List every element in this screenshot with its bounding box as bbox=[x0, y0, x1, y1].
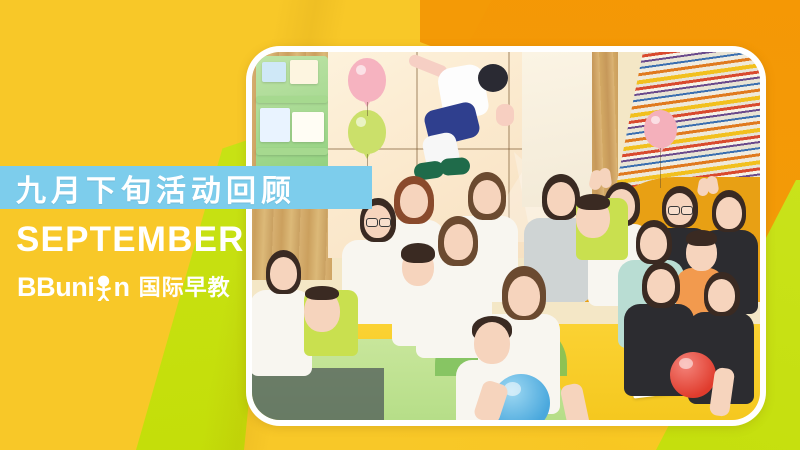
balloon-string bbox=[660, 148, 661, 188]
picture-book bbox=[262, 62, 286, 82]
brand-name-part1: BBuni bbox=[17, 274, 94, 301]
person-toddler bbox=[576, 198, 628, 260]
dark-mat-edge bbox=[252, 368, 384, 420]
balloon-highlight bbox=[651, 116, 660, 124]
title-banner: 九月下旬活动回顾 bbox=[0, 166, 372, 209]
picture-book bbox=[292, 112, 324, 142]
picture-book bbox=[290, 60, 318, 84]
green-balloon bbox=[348, 110, 386, 154]
page-title: 九月下旬活动回顾 bbox=[0, 166, 296, 210]
person-toddler bbox=[304, 290, 358, 356]
balloon-highlight bbox=[356, 117, 366, 127]
red-play-ball bbox=[670, 352, 716, 398]
month-label: SEPTEMBER bbox=[16, 222, 245, 257]
group-photo bbox=[252, 52, 760, 420]
brand-name-cn: 国际早教 bbox=[139, 277, 231, 299]
shelf-ledge bbox=[256, 148, 328, 155]
photo-scene bbox=[252, 52, 760, 420]
projected-hand bbox=[496, 104, 514, 126]
pink-balloon bbox=[348, 58, 386, 102]
brand-logo: BBuni n 国际早教 bbox=[17, 274, 231, 301]
person-figure-icon bbox=[94, 275, 113, 301]
green-shelf bbox=[256, 56, 328, 181]
shelf-ledge bbox=[256, 96, 328, 103]
eyeglasses bbox=[379, 218, 391, 227]
balloon-string bbox=[367, 102, 368, 116]
projected-child-head bbox=[478, 64, 508, 92]
eyeglasses bbox=[668, 206, 680, 215]
eyeglasses bbox=[681, 206, 693, 215]
poster-canvas: 九月下旬活动回顾 SEPTEMBER BBuni n 国际早教 bbox=[0, 0, 800, 450]
photo-card bbox=[246, 46, 766, 426]
brand-name-part2: n bbox=[113, 274, 129, 301]
eyeglasses bbox=[366, 218, 378, 227]
ball-highlight bbox=[679, 358, 693, 369]
picture-book bbox=[260, 108, 290, 142]
balloon-highlight bbox=[356, 65, 366, 75]
projected-child-shoe bbox=[439, 157, 470, 176]
pink-balloon bbox=[644, 110, 677, 148]
